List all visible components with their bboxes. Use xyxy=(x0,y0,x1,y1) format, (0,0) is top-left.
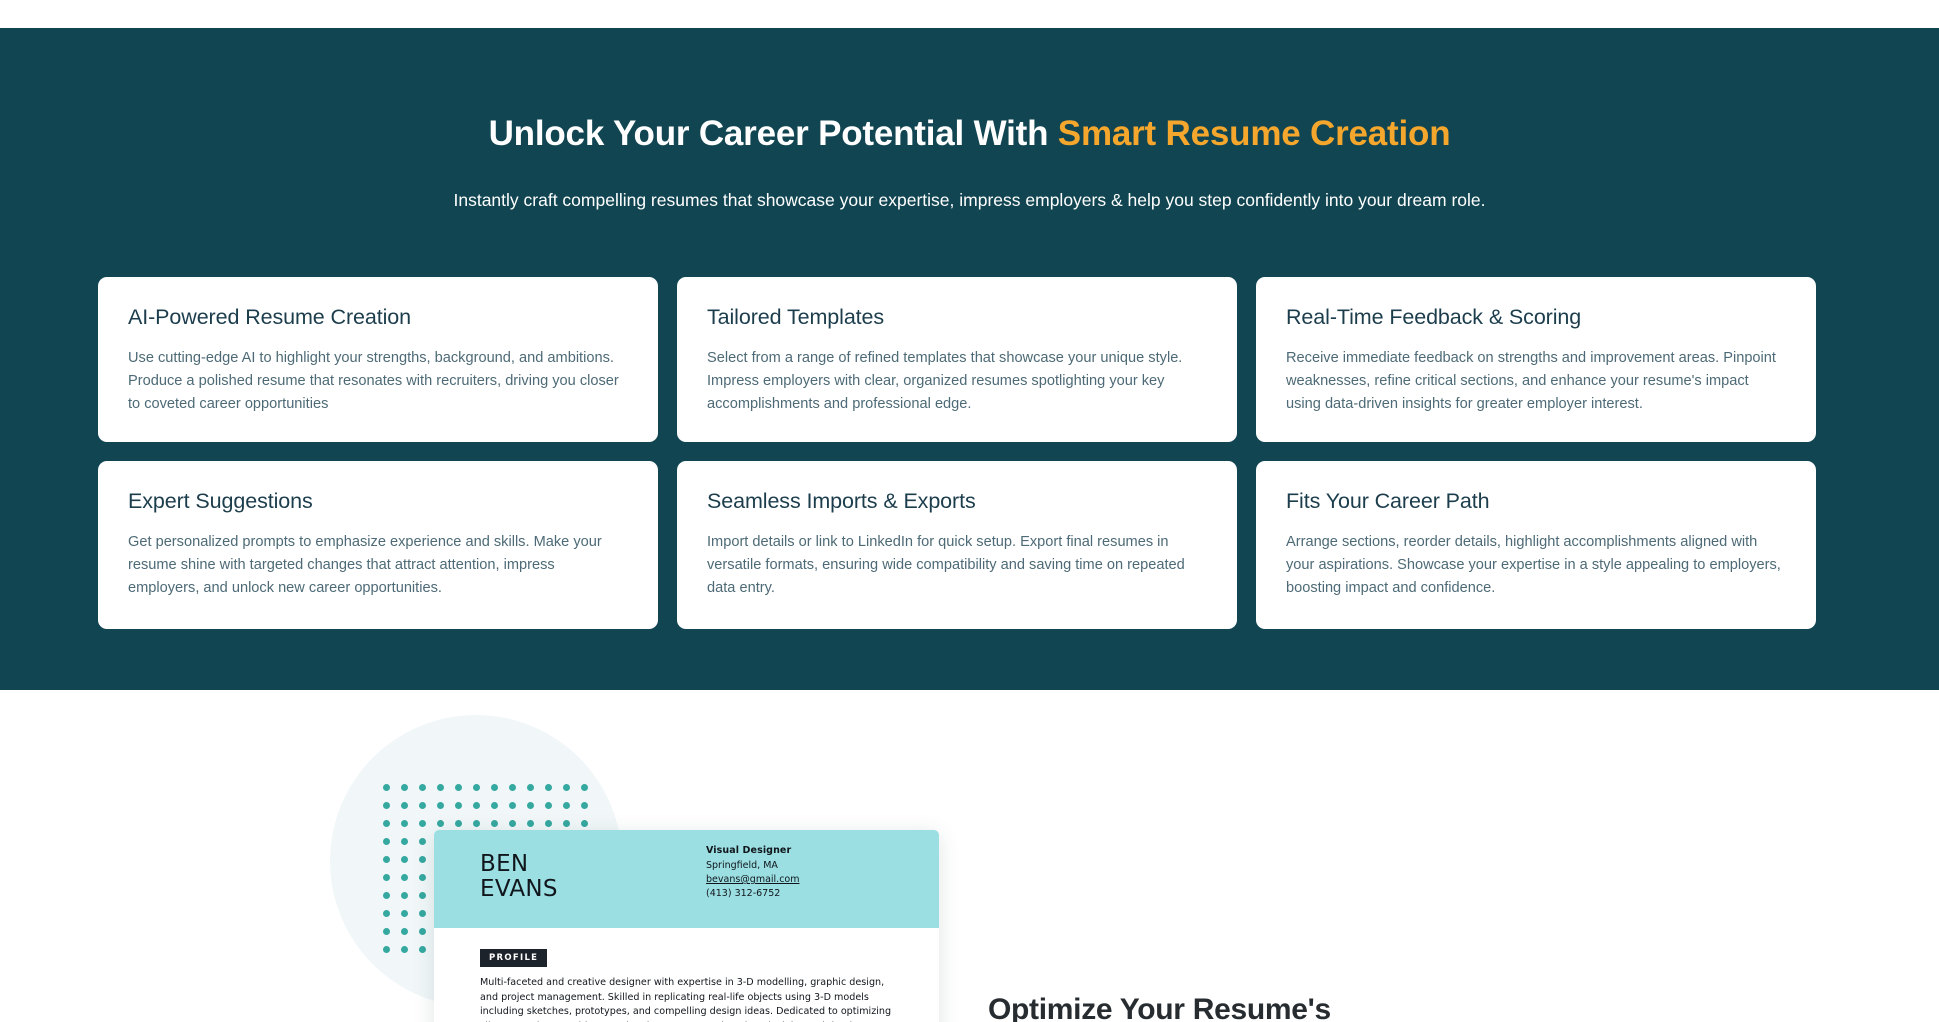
feature-card-description: Import details or link to LinkedIn for q… xyxy=(707,531,1207,600)
decorative-dot xyxy=(581,820,588,827)
resume-preview-card[interactable]: BEN EVANS Visual Designer Springfield, M… xyxy=(434,830,939,1022)
decorative-dot xyxy=(419,838,426,845)
resume-first-name: BEN xyxy=(480,852,558,877)
decorative-dot xyxy=(563,820,570,827)
decorative-dot xyxy=(455,820,462,827)
feature-card-title: Tailored Templates xyxy=(707,305,1207,330)
decorative-dot xyxy=(383,856,390,863)
decorative-dot xyxy=(401,838,408,845)
decorative-dot xyxy=(401,892,408,899)
landing-page: Unlock Your Career Potential With Smart … xyxy=(0,0,1939,1022)
decorative-dot xyxy=(527,784,534,791)
feature-card-description: Get personalized prompts to emphasize ex… xyxy=(128,531,628,600)
decorative-dot xyxy=(491,802,498,809)
decorative-dot xyxy=(383,802,390,809)
decorative-dot xyxy=(437,820,444,827)
decorative-dot xyxy=(419,928,426,935)
decorative-dot xyxy=(473,802,480,809)
resume-candidate-name: BEN EVANS xyxy=(480,852,558,902)
decorative-dot xyxy=(419,892,426,899)
decorative-dot xyxy=(383,874,390,881)
decorative-dot xyxy=(401,946,408,953)
decorative-dot xyxy=(509,784,516,791)
feature-card[interactable]: Expert Suggestions Get personalized prom… xyxy=(98,461,658,629)
decorative-dot xyxy=(491,784,498,791)
resume-email-link[interactable]: bevans@gmail.com xyxy=(706,874,799,885)
decorative-dot xyxy=(419,946,426,953)
resume-profile-text: Multi-faceted and creative designer with… xyxy=(480,976,893,1022)
feature-card-description: Arrange sections, reorder details, highl… xyxy=(1286,531,1786,600)
decorative-dot xyxy=(419,856,426,863)
feature-card-title: Expert Suggestions xyxy=(128,489,628,514)
decorative-dot xyxy=(473,820,480,827)
feature-card-title: Real-Time Feedback & Scoring xyxy=(1286,305,1786,330)
decorative-dot xyxy=(401,784,408,791)
decorative-dot xyxy=(383,910,390,917)
resume-contact-block: Visual Designer Springfield, MA bevans@g… xyxy=(706,845,799,902)
decorative-dot xyxy=(383,892,390,899)
feature-card[interactable]: AI-Powered Resume Creation Use cutting-e… xyxy=(98,277,658,442)
decorative-dot xyxy=(455,784,462,791)
decorative-dot xyxy=(581,802,588,809)
decorative-dot xyxy=(401,856,408,863)
decorative-dot xyxy=(419,784,426,791)
decorative-dot xyxy=(383,946,390,953)
decorative-dot xyxy=(383,820,390,827)
decorative-dot xyxy=(419,802,426,809)
resume-profile-label: PROFILE xyxy=(480,949,547,967)
feature-card-grid: AI-Powered Resume Creation Use cutting-e… xyxy=(98,277,1815,629)
decorative-dot xyxy=(509,802,516,809)
decorative-dot xyxy=(563,784,570,791)
resume-job-title: Visual Designer xyxy=(706,845,799,856)
feature-card[interactable]: Real-Time Feedback & Scoring Receive imm… xyxy=(1256,277,1816,442)
page-title: Unlock Your Career Potential With Smart … xyxy=(0,114,1939,154)
feature-card[interactable]: Tailored Templates Select from a range o… xyxy=(677,277,1237,442)
decorative-dot xyxy=(383,838,390,845)
feature-card-description: Use cutting-edge AI to highlight your st… xyxy=(128,347,628,416)
resume-showcase-section: BEN EVANS Visual Designer Springfield, M… xyxy=(0,690,1939,1022)
decorative-dot xyxy=(527,820,534,827)
resume-preview-body: PROFILE Multi-faceted and creative desig… xyxy=(434,928,939,1022)
decorative-dot xyxy=(437,784,444,791)
decorative-dot xyxy=(509,820,516,827)
decorative-dot xyxy=(401,820,408,827)
decorative-dot xyxy=(401,874,408,881)
decorative-dot xyxy=(401,910,408,917)
page-title-accent: Smart Resume Creation xyxy=(1058,114,1451,153)
page-subtitle: Instantly craft compelling resumes that … xyxy=(0,190,1939,211)
feature-card[interactable]: Fits Your Career Path Arrange sections, … xyxy=(1256,461,1816,629)
resume-preview-header: BEN EVANS Visual Designer Springfield, M… xyxy=(434,830,939,928)
decorative-dot xyxy=(473,784,480,791)
page-title-main: Unlock Your Career Potential With xyxy=(489,114,1058,153)
decorative-dot xyxy=(401,928,408,935)
decorative-dot xyxy=(545,802,552,809)
feature-card-description: Receive immediate feedback on strengths … xyxy=(1286,347,1786,416)
decorative-dot xyxy=(419,820,426,827)
features-section: Unlock Your Career Potential With Smart … xyxy=(0,28,1939,690)
feature-card-title: Fits Your Career Path xyxy=(1286,489,1786,514)
feature-card-title: AI-Powered Resume Creation xyxy=(128,305,628,330)
resume-location: Springfield, MA xyxy=(706,860,799,871)
decorative-dot xyxy=(545,820,552,827)
feature-card[interactable]: Seamless Imports & Exports Import detail… xyxy=(677,461,1237,629)
decorative-dot xyxy=(455,802,462,809)
resume-last-name: EVANS xyxy=(480,877,558,902)
top-white-strip xyxy=(0,0,1939,28)
decorative-dot xyxy=(437,802,444,809)
decorative-dot xyxy=(527,802,534,809)
feature-card-title: Seamless Imports & Exports xyxy=(707,489,1207,514)
decorative-dot xyxy=(419,910,426,917)
feature-card-description: Select from a range of refined templates… xyxy=(707,347,1207,416)
decorative-dot xyxy=(401,802,408,809)
decorative-dot xyxy=(419,874,426,881)
resume-phone: (413) 312-6752 xyxy=(706,888,799,899)
decorative-dot xyxy=(383,928,390,935)
decorative-dot xyxy=(581,784,588,791)
decorative-dot xyxy=(563,802,570,809)
decorative-dot xyxy=(491,820,498,827)
decorative-dot xyxy=(545,784,552,791)
section-heading: Optimize Your Resume's xyxy=(988,993,1331,1022)
decorative-dot xyxy=(383,784,390,791)
